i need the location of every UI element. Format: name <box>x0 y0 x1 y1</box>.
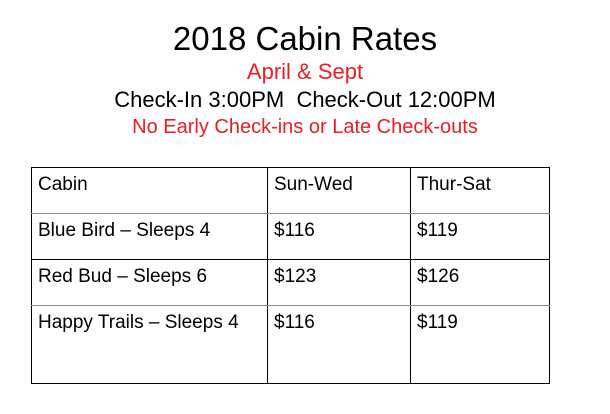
rate-sun-wed-text: $123 <box>274 266 410 288</box>
column-header-sun-wed: Sun-Wed <box>268 168 411 214</box>
rate-thur-sat-text: $119 <box>417 312 549 334</box>
table-row: Happy Trails – Sleeps 4 $116 $119 <box>32 306 550 384</box>
rate-thur-sat-text: $119 <box>417 220 549 242</box>
table-row: Blue Bird – Sleeps 4 $116 $119 <box>32 214 550 260</box>
column-header-thur-sat-label: Thur-Sat <box>417 174 549 196</box>
rate-sun-wed-text: $116 <box>274 220 410 242</box>
cell-cabin-name: Happy Trails – Sleeps 4 <box>32 306 268 384</box>
cabin-name-text: Red Bud – Sleeps 6 <box>38 266 267 288</box>
rate-thur-sat-text: $126 <box>417 266 549 288</box>
table-header-row: Cabin Sun-Wed Thur-Sat <box>32 168 550 214</box>
season-subtitle: April & Sept <box>0 57 610 85</box>
cell-rate-thur-sat: $119 <box>411 214 550 260</box>
cell-cabin-name: Blue Bird – Sleeps 4 <box>32 214 268 260</box>
cabin-name-text: Happy Trails – Sleeps 4 <box>38 312 267 334</box>
cell-rate-thur-sat: $126 <box>411 260 550 306</box>
column-header-cabin-label: Cabin <box>38 174 267 196</box>
column-header-thur-sat: Thur-Sat <box>411 168 550 214</box>
policy-note: No Early Check-ins or Late Check-outs <box>0 113 610 139</box>
rates-table-container: Cabin Sun-Wed Thur-Sat Blue Bird – Sleep… <box>31 167 549 382</box>
column-header-cabin: Cabin <box>32 168 268 214</box>
cell-rate-sun-wed: $116 <box>268 306 411 384</box>
cell-rate-sun-wed: $116 <box>268 214 411 260</box>
cabin-rates-page: 2018 Cabin Rates April & Sept Check-In 3… <box>0 0 610 414</box>
cabin-name-text: Blue Bird – Sleeps 4 <box>38 220 267 242</box>
cell-rate-sun-wed: $123 <box>268 260 411 306</box>
rates-table: Cabin Sun-Wed Thur-Sat Blue Bird – Sleep… <box>31 167 550 384</box>
page-title: 2018 Cabin Rates <box>0 0 610 57</box>
table-row: Red Bud – Sleeps 6 $123 $126 <box>32 260 550 306</box>
check-times-line: Check-In 3:00PM Check-Out 12:00PM <box>0 85 610 113</box>
heading-block: 2018 Cabin Rates April & Sept Check-In 3… <box>0 0 610 139</box>
cell-cabin-name: Red Bud – Sleeps 6 <box>32 260 268 306</box>
rate-sun-wed-text: $116 <box>274 312 410 334</box>
column-header-sun-wed-label: Sun-Wed <box>274 174 410 196</box>
cell-rate-thur-sat: $119 <box>411 306 550 384</box>
